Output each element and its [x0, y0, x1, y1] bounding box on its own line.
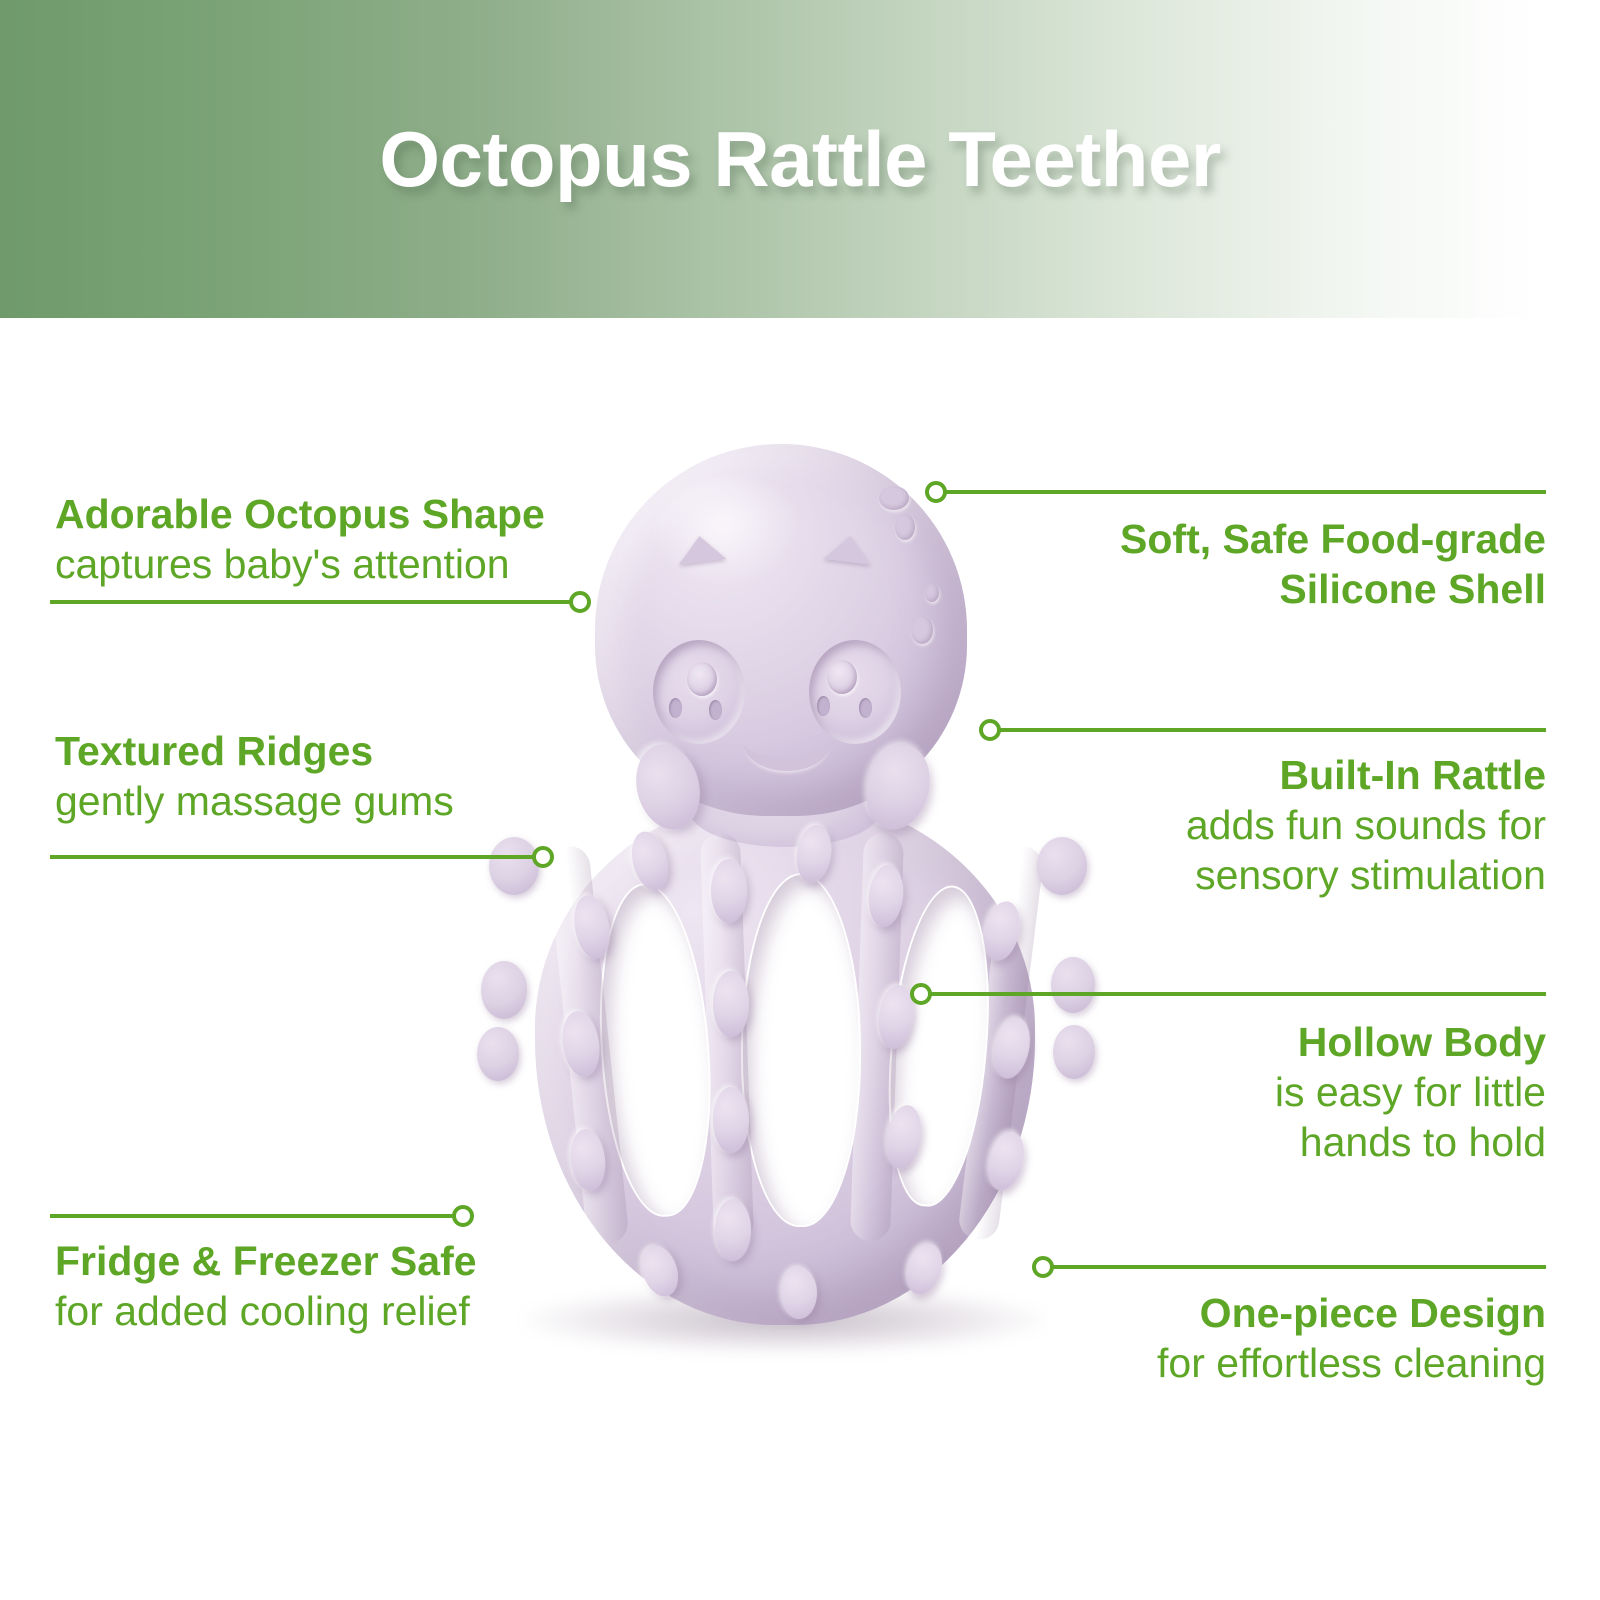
callout-title: Soft, Safe Food-grade [986, 514, 1546, 564]
callout-one-piece-design: One-piece Design for effortless cleaning [986, 1288, 1546, 1388]
callout-subtitle: adds fun sounds for [986, 800, 1546, 850]
texture-bump [711, 859, 747, 923]
mouth-smile [743, 712, 831, 771]
connector-dot-hollow-body [910, 983, 932, 1005]
callout-subtitle-line2: sensory stimulation [986, 850, 1546, 900]
connector-dot-fridge-freezer-safe [452, 1205, 474, 1227]
eye-speck [709, 700, 722, 720]
connector-dot-textured-ridges [532, 846, 554, 868]
connector-dot-silicone-shell [925, 481, 947, 503]
eye-left [653, 640, 745, 744]
eye-speck [859, 698, 872, 718]
callout-subtitle: for effortless cleaning [986, 1338, 1546, 1388]
tentacle-nub [489, 837, 539, 895]
callout-subtitle: is easy for little [986, 1067, 1546, 1117]
callout-fridge-freezer-safe: Fridge & Freezer Safe for added cooling … [55, 1236, 615, 1336]
infographic-canvas: Octopus Rattle Teether [0, 0, 1600, 1600]
head-texture-bump [925, 584, 939, 602]
eyebrow-right-icon [824, 533, 875, 565]
callout-subtitle: gently massage gums [55, 776, 615, 826]
texture-bump [781, 1267, 817, 1319]
connector-line-one-piece-design [1053, 1265, 1546, 1269]
connector-line-adorable-octopus-shape [50, 600, 580, 604]
header-banner: Octopus Rattle Teether [0, 0, 1600, 318]
callout-title: Fridge & Freezer Safe [55, 1236, 615, 1286]
tentacle-nub [1051, 957, 1095, 1013]
callout-title: Adorable Octopus Shape [55, 489, 615, 539]
head-texture-bump [911, 616, 933, 644]
texture-bump [713, 1087, 749, 1153]
callout-textured-ridges: Textured Ridges gently massage gums [55, 726, 615, 826]
connector-line-hollow-body [931, 992, 1546, 996]
pupil-right [827, 660, 857, 694]
callout-title: Built-In Rattle [986, 750, 1546, 800]
connector-line-textured-ridges [50, 855, 542, 859]
callout-subtitle: captures baby's attention [55, 539, 615, 589]
tentacle-nub [477, 1027, 519, 1081]
pupil-left [687, 662, 717, 696]
callout-hollow-body: Hollow Body is easy for little hands to … [986, 1017, 1546, 1167]
texture-bump [713, 971, 749, 1037]
head-texture-bump [895, 514, 915, 540]
connector-dot-built-in-rattle [979, 719, 1001, 741]
head-highlight [655, 478, 805, 588]
head-texture-bump [879, 486, 909, 510]
tentacle-nub [481, 961, 527, 1019]
connector-dot-adorable-octopus-shape [569, 591, 591, 613]
callout-adorable-octopus-shape: Adorable Octopus Shape captures baby's a… [55, 489, 615, 589]
eye-speck [669, 698, 682, 718]
callout-built-in-rattle: Built-In Rattle adds fun sounds for sens… [986, 750, 1546, 900]
callout-title: Textured Ridges [55, 726, 615, 776]
callout-title: Hollow Body [986, 1017, 1546, 1067]
callout-silicone-shell: Soft, Safe Food-grade Silicone Shell [986, 514, 1546, 614]
product-head [595, 444, 967, 816]
callout-subtitle: for added cooling relief [55, 1286, 615, 1336]
connector-line-built-in-rattle [1000, 728, 1546, 732]
connector-line-fridge-freezer-safe [50, 1214, 462, 1218]
callout-title-line2: Silicone Shell [986, 564, 1546, 614]
texture-bump [715, 1199, 751, 1261]
connector-dot-one-piece-design [1032, 1256, 1054, 1278]
callout-subtitle-line2: hands to hold [986, 1117, 1546, 1167]
body-opening [743, 875, 859, 1225]
page-title: Octopus Rattle Teether [0, 0, 1600, 318]
connector-line-silicone-shell [946, 490, 1546, 494]
callout-title: One-piece Design [986, 1288, 1546, 1338]
